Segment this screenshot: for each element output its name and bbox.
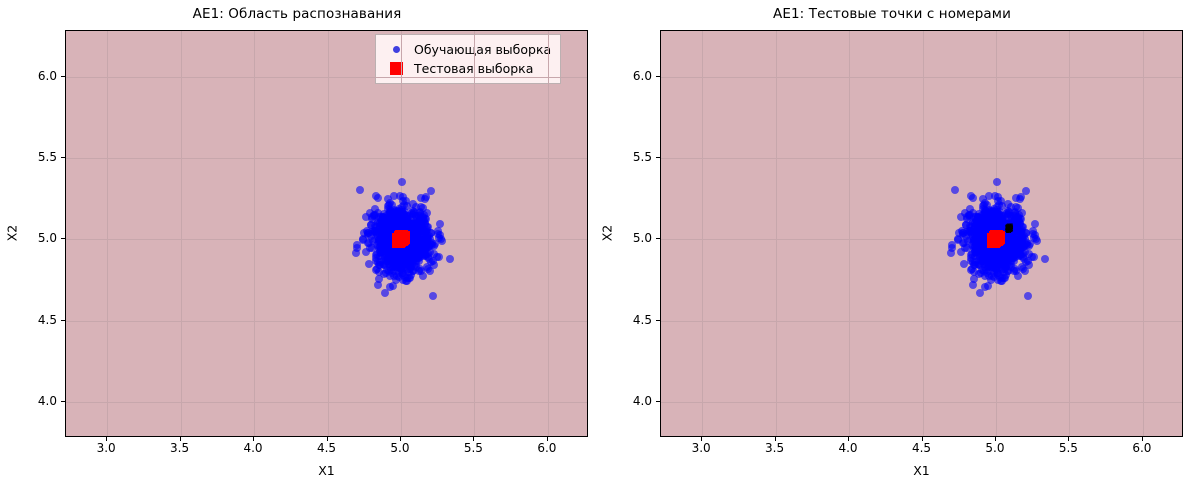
gridline-horizontal: [661, 158, 1182, 159]
x-tick-label: 6.0: [537, 441, 556, 455]
y-tick-label: 4.0: [633, 394, 652, 408]
y-tick-label: 6.0: [633, 69, 652, 83]
data-point-train: [396, 253, 404, 261]
x-tick-label: 4.0: [838, 441, 857, 455]
data-point-train: [356, 186, 364, 194]
y-tick-mark: [656, 76, 660, 77]
figure-canvas: AE1: Область распознавания Обучающая выб…: [0, 0, 1189, 490]
y-tick-mark: [61, 157, 65, 158]
y-tick-mark: [656, 401, 660, 402]
x-tick-label: 3.5: [765, 441, 784, 455]
data-point-train: [976, 289, 984, 297]
gridline-horizontal: [66, 239, 587, 240]
data-point-train: [398, 178, 406, 186]
y-axis-label-left: X2: [5, 225, 20, 242]
legend-marker-circle-icon: [383, 46, 409, 53]
data-point-train: [379, 214, 387, 222]
data-point-train: [416, 208, 424, 216]
data-point-train: [969, 194, 977, 202]
data-point-train: [1011, 208, 1019, 216]
y-axis-label-right: X2: [600, 225, 615, 242]
data-point-train: [1033, 237, 1041, 245]
gridline-horizontal: [661, 402, 1182, 403]
gridline-vertical: [474, 31, 475, 436]
data-point-train: [374, 281, 382, 289]
data-point-train: [393, 218, 401, 226]
data-point-train: [1003, 260, 1011, 268]
data-point-train: [421, 195, 429, 203]
gridline-horizontal: [66, 402, 587, 403]
legend-marker-square-icon: [383, 62, 409, 75]
legend-item-train: Обучающая выборка: [383, 40, 551, 59]
subplot-test-points-numbered: AE1: Тестовые точки с номерами 012345678…: [595, 0, 1189, 490]
plot-area-left: Обучающая выборка Тестовая выборка: [65, 30, 588, 437]
data-point-train: [374, 194, 382, 202]
gridline-vertical: [849, 31, 850, 436]
gridline-horizontal: [66, 321, 587, 322]
data-point-train: [395, 273, 403, 281]
x-tick-label: 4.5: [317, 441, 336, 455]
data-point-train: [353, 244, 361, 252]
x-tick-label: 3.0: [97, 441, 116, 455]
gridline-horizontal: [661, 239, 1182, 240]
data-point-train: [995, 210, 1003, 218]
data-point-train: [381, 232, 389, 240]
y-tick-mark: [656, 157, 660, 158]
y-tick-label: 4.5: [38, 313, 57, 327]
subplot-title-right: AE1: Тестовые точки с номерами: [595, 6, 1189, 22]
data-point-train: [1021, 267, 1029, 275]
data-point-train: [362, 213, 370, 221]
gridline-horizontal: [661, 77, 1182, 78]
gridline-horizontal: [661, 321, 1182, 322]
y-tick-mark: [61, 76, 65, 77]
data-point-train: [1017, 237, 1025, 245]
data-point-train: [406, 221, 414, 229]
data-point-train: [948, 244, 956, 252]
data-point-train: [1016, 195, 1024, 203]
data-point-train: [422, 237, 430, 245]
data-point-train: [1026, 240, 1034, 248]
data-point-train: [994, 197, 1002, 205]
y-tick-mark: [61, 320, 65, 321]
data-point-train: [400, 210, 408, 218]
x-tick-label: 5.5: [1059, 441, 1078, 455]
data-point-train: [1041, 255, 1049, 263]
y-tick-label: 4.5: [633, 313, 652, 327]
gridline-horizontal: [66, 158, 587, 159]
subplot-title-left: AE1: Область распознавания: [0, 6, 594, 22]
data-point-train: [408, 209, 416, 217]
data-point-train: [390, 192, 398, 200]
y-tick-label: 5.5: [633, 150, 652, 164]
y-tick-label: 6.0: [38, 69, 57, 83]
legend-item-test: Тестовая выборка: [383, 59, 551, 78]
data-point-train: [362, 248, 370, 256]
x-tick-label: 6.0: [1132, 441, 1151, 455]
data-point-train: [399, 197, 407, 205]
y-tick-label: 5.5: [38, 150, 57, 164]
x-tick-label: 4.5: [912, 441, 931, 455]
data-point-train: [429, 292, 437, 300]
data-point-train: [1018, 223, 1026, 231]
gridline-vertical: [1069, 31, 1070, 436]
data-point-train: [988, 218, 996, 226]
data-point-train: [990, 273, 998, 281]
data-point-train: [974, 214, 982, 222]
gridline-vertical: [548, 31, 549, 436]
y-tick-mark: [656, 320, 660, 321]
plot-area-right: 0123456789012345678901234567890123456789…: [660, 30, 1183, 437]
data-point-train: [417, 267, 425, 275]
data-point-train: [423, 223, 431, 231]
gridline-vertical: [254, 31, 255, 436]
x-tick-label: 4.0: [243, 441, 262, 455]
data-point-test: [394, 231, 407, 244]
gridline-vertical: [107, 31, 108, 436]
data-point-train: [951, 186, 959, 194]
gridline-vertical: [328, 31, 329, 436]
x-axis-label-right: X1: [660, 463, 1183, 478]
gridline-vertical: [702, 31, 703, 436]
x-tick-label: 5.0: [390, 441, 409, 455]
data-point-train: [991, 253, 999, 261]
data-point-train: [985, 192, 993, 200]
data-point-train: [431, 240, 439, 248]
y-tick-label: 5.0: [38, 231, 57, 245]
x-axis-label-left: X1: [65, 463, 588, 478]
x-tick-label: 5.5: [464, 441, 483, 455]
x-tick-label: 3.0: [692, 441, 711, 455]
y-tick-label: 4.0: [38, 394, 57, 408]
data-point-train: [436, 220, 444, 228]
y-tick-mark: [61, 401, 65, 402]
data-point-train: [408, 260, 416, 268]
data-point-train: [1031, 220, 1039, 228]
data-point-train: [969, 281, 977, 289]
data-point-train: [1024, 292, 1032, 300]
y-tick-label: 5.0: [633, 231, 652, 245]
data-point-train: [976, 232, 984, 240]
gridline-horizontal: [66, 77, 587, 78]
data-point-train: [1012, 267, 1020, 275]
data-point-train: [957, 213, 965, 221]
data-point-train: [993, 178, 1001, 186]
data-point-train: [438, 237, 446, 245]
y-tick-mark: [656, 238, 660, 239]
subplot-recognition-area: AE1: Область распознавания Обучающая выб…: [0, 0, 594, 490]
data-point-train: [381, 289, 389, 297]
y-tick-mark: [61, 238, 65, 239]
data-point-train: [426, 267, 434, 275]
data-point-train: [957, 248, 965, 256]
gridline-vertical: [181, 31, 182, 436]
legend-label-train: Обучающая выборка: [414, 42, 551, 57]
data-point-test: [989, 231, 1002, 244]
gridline-vertical: [776, 31, 777, 436]
point-number-annotation: 9: [1006, 228, 1010, 234]
data-point-train: [446, 255, 454, 263]
x-tick-label: 3.5: [170, 441, 189, 455]
data-point-train: [1003, 209, 1011, 217]
gridline-vertical: [1143, 31, 1144, 436]
gridline-vertical: [923, 31, 924, 436]
x-tick-label: 5.0: [985, 441, 1004, 455]
